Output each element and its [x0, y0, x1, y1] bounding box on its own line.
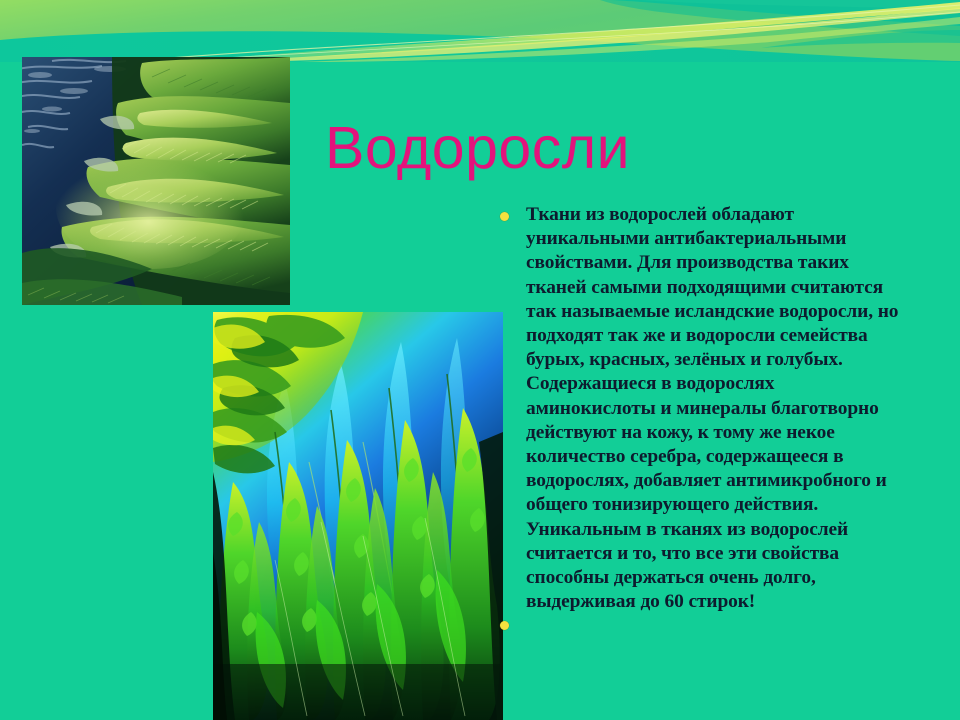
banner-wave-graphic [0, 0, 960, 62]
algae-fronds-illustration [22, 57, 290, 305]
kelp-forest-illustration [213, 312, 503, 720]
bullet-dot-icon [500, 212, 509, 221]
photo-algae-fronds [22, 57, 290, 305]
green-wave-banner [0, 0, 960, 62]
list-item: Ткани из водорослей обладают уникальными… [496, 203, 908, 614]
photo-kelp-forest [213, 312, 503, 720]
list-item-empty [496, 614, 908, 640]
page-title: Водоросли [325, 118, 925, 180]
list-item-text: Ткани из водорослей обладают уникальными… [526, 203, 908, 614]
bullet-dot-icon [500, 621, 509, 630]
body-text-block: Ткани из водорослей обладают уникальными… [496, 203, 908, 640]
presentation-slide: Водоросли Ткани из водорослей обладают у… [0, 0, 960, 720]
